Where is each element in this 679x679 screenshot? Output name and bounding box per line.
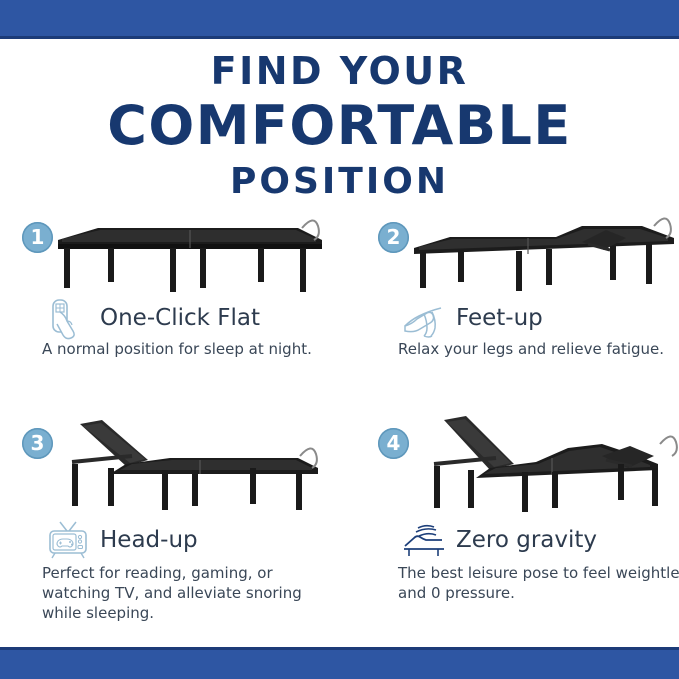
zero-gravity-bed-icon (402, 518, 446, 562)
feature-label-row: Head-up (46, 518, 198, 562)
bed-flat-illustration (50, 206, 330, 298)
step-badge: 1 (22, 222, 53, 253)
tv-gamepad-icon (46, 518, 90, 562)
feature-title: Head-up (100, 527, 198, 553)
feature-title: Feet-up (456, 305, 543, 331)
feature-label-row: Zero gravity (402, 518, 597, 562)
product-feature-poster: FIND YOUR COMFORTABLE POSITION 1 (0, 0, 679, 679)
feature-description: Relax your legs and relieve fatigue. (398, 340, 679, 360)
step-badge: 3 (22, 428, 53, 459)
bed-feet-up-illustration (406, 206, 679, 298)
title-line-1: FIND YOUR (0, 44, 679, 90)
hand-remote-icon (46, 296, 90, 340)
feature-description: Perfect for reading, gaming, or watching… (42, 564, 342, 623)
title-line-2: COMFORTABLE (0, 90, 679, 153)
feature-description: A normal position for sleep at night. (42, 340, 342, 360)
feature-label-row: One-Click Flat (46, 296, 260, 340)
feature-label-row: Feet-up (402, 296, 543, 340)
title-line-3: POSITION (0, 153, 679, 200)
feature-title: Zero gravity (456, 527, 597, 553)
feature-title: One-Click Flat (100, 305, 260, 331)
bottom-blue-band (0, 650, 679, 679)
legs-raised-icon (402, 296, 446, 340)
bed-zero-gravity-illustration (406, 412, 679, 516)
top-blue-band (0, 0, 679, 36)
top-band-rule (0, 36, 679, 39)
page-title: FIND YOUR COMFORTABLE POSITION (0, 44, 679, 200)
step-badge: 2 (378, 222, 409, 253)
feature-description: The best leisure pose to feel weightless… (398, 564, 679, 604)
bed-head-up-illustration (50, 412, 330, 516)
step-badge: 4 (378, 428, 409, 459)
